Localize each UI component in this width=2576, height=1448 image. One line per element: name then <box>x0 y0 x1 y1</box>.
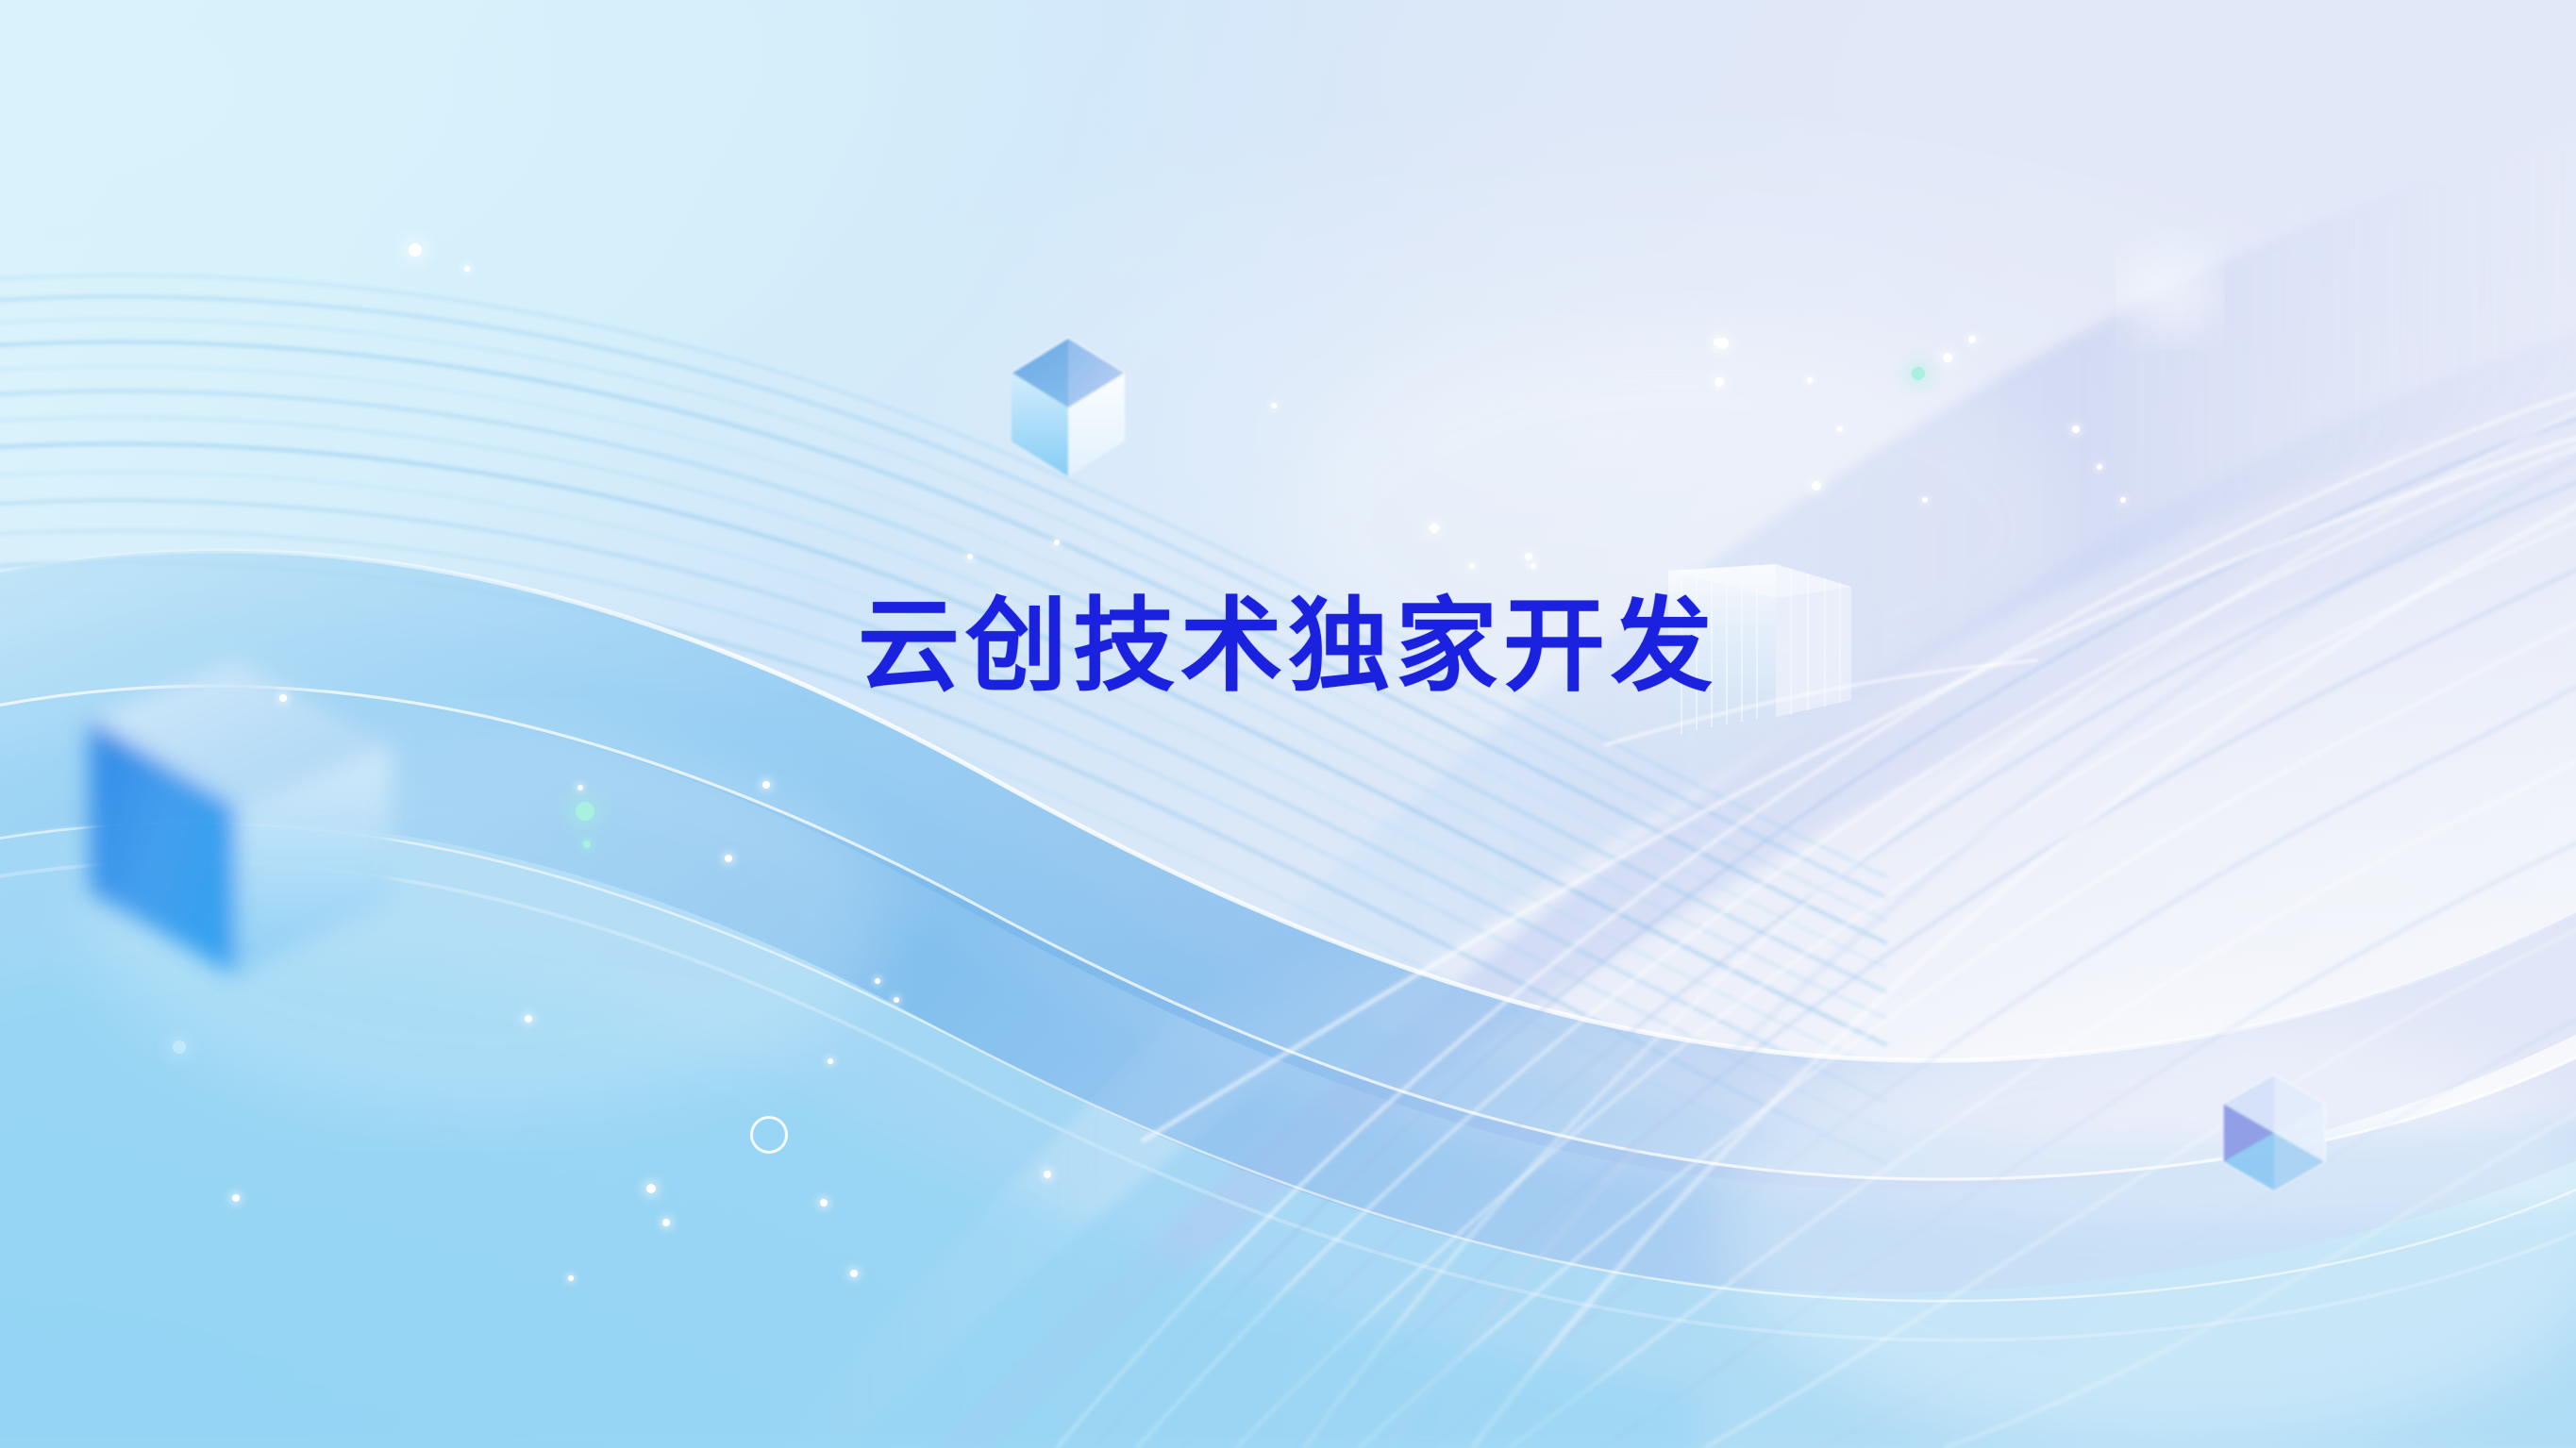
particle-dot <box>820 1199 828 1207</box>
particle-dot <box>568 1275 574 1281</box>
particle-dot <box>1469 563 1475 569</box>
particle-dot <box>662 1219 670 1226</box>
particle-dot <box>967 554 973 559</box>
isometric-cube-small <box>1012 338 1125 476</box>
particle-dot <box>576 802 594 821</box>
particle-dot <box>232 1194 240 1202</box>
particle-dot <box>646 1184 656 1193</box>
particle-dot <box>1531 563 1536 569</box>
particle-dot <box>583 841 591 848</box>
poster-canvas: 云创技术独家开发 <box>0 0 2576 1448</box>
hexagon-faint <box>2125 238 2216 340</box>
particle-dot <box>1922 497 1928 503</box>
particle-dot <box>1044 1171 1051 1178</box>
particle-dot <box>577 785 583 791</box>
particle-dot <box>875 978 880 984</box>
wave-ribbon-artwork <box>0 0 2576 1448</box>
particle-dot <box>2097 464 2102 470</box>
particle-field <box>0 0 2576 1448</box>
particle-dot <box>1714 339 1721 346</box>
background-sheen <box>0 0 2576 1448</box>
ring-particle <box>750 1116 788 1154</box>
particle-dot <box>762 781 770 789</box>
geometric-decorations <box>0 0 2576 1448</box>
isometric-cube-large-blurred <box>90 660 392 976</box>
particle-dot <box>2072 425 2080 433</box>
particle-dot <box>2120 497 2126 503</box>
particle-dot <box>525 1015 532 1023</box>
particle-dot <box>1943 353 1952 362</box>
background-gradient <box>0 0 2576 1448</box>
particle-dot <box>464 266 470 272</box>
page-title: 云创技术独家开发 <box>858 592 1718 703</box>
particle-dot <box>828 1058 833 1064</box>
particle-dot <box>850 1270 858 1277</box>
particle-dot <box>1717 338 1729 349</box>
particle-dot <box>1054 540 1060 545</box>
particle-dot <box>894 997 899 1003</box>
particle-dot <box>1812 481 1821 491</box>
particle-dot <box>1430 524 1439 533</box>
particle-dot <box>1715 377 1724 387</box>
particle-dot <box>173 1040 186 1054</box>
particle-dot <box>1271 403 1277 408</box>
particle-dot <box>1912 367 1925 380</box>
particle-dot <box>1525 553 1532 560</box>
hexagon-gem <box>2223 1074 2325 1191</box>
headline-container: 云创技术独家开发 <box>0 592 2576 703</box>
particle-dot <box>1807 377 1813 383</box>
particle-dot <box>409 243 422 257</box>
particle-dot <box>1837 426 1843 432</box>
particle-dot <box>725 855 732 862</box>
particle-dot <box>1968 336 1976 343</box>
